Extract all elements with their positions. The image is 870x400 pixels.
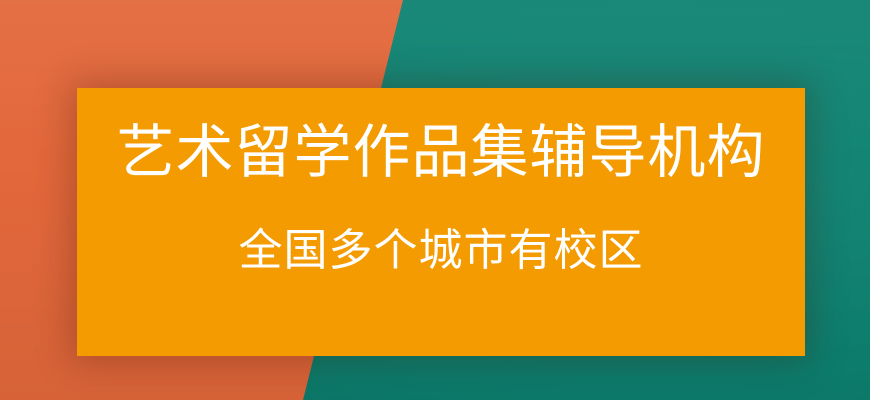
page-title: 艺术留学作品集辅导机构 (116, 122, 765, 185)
page-subtitle: 全国多个城市有校区 (239, 227, 644, 275)
headline-card: 艺术留学作品集辅导机构 全国多个城市有校区 (77, 88, 805, 356)
promo-banner: 艺术留学作品集辅导机构 全国多个城市有校区 (0, 0, 870, 400)
